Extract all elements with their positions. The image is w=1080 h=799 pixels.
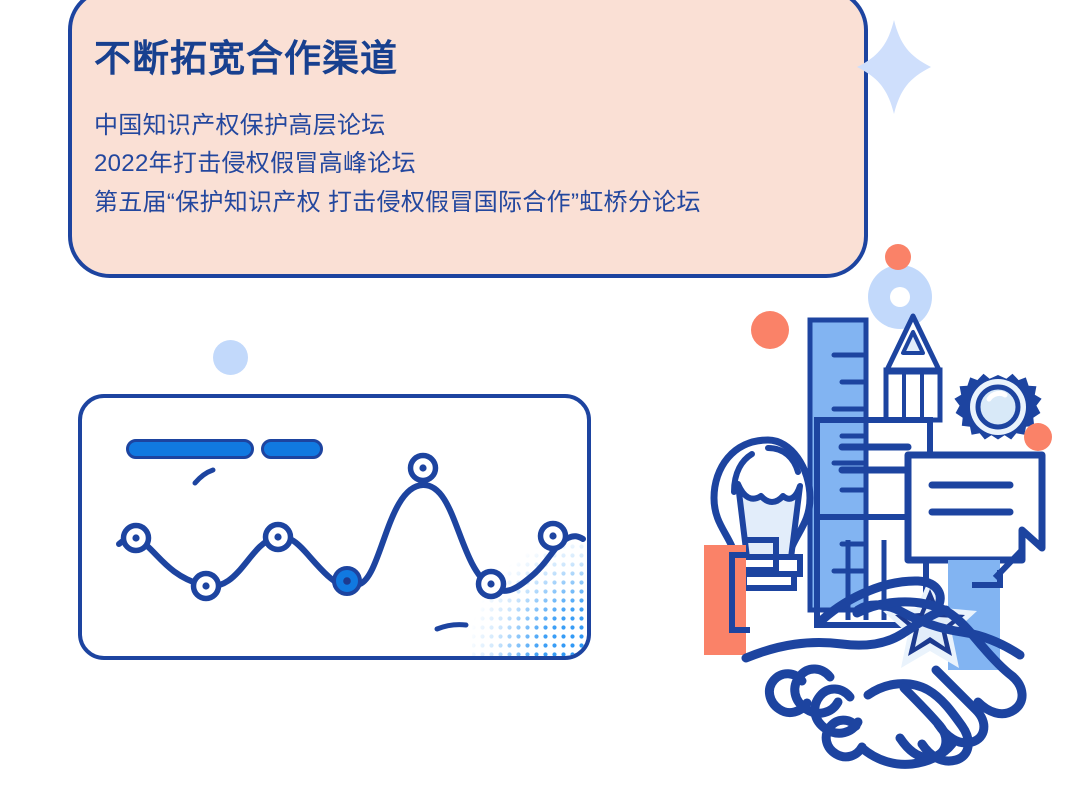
coral-dot-document-icon bbox=[1024, 423, 1052, 451]
arc-stroke-bottom-icon bbox=[437, 625, 466, 629]
chart-card bbox=[78, 394, 591, 660]
list-item: 2022年打击侵权假冒高峰论坛 bbox=[94, 145, 830, 184]
chart-markers bbox=[124, 456, 566, 599]
cooperation-illustration bbox=[690, 240, 1080, 770]
forum-list: 中国知识产权保护高层论坛 2022年打击侵权假冒高峰论坛 第五届“保护知识产权 … bbox=[94, 107, 830, 224]
pencil-icon bbox=[886, 316, 940, 420]
data-point-marker-active[interactable] bbox=[334, 568, 360, 594]
coral-sleeve-left-icon bbox=[704, 545, 746, 655]
list-item: 第五届“保护知识产权 打击侵权假冒国际合作”虹桥分论坛 bbox=[94, 184, 830, 223]
poster-canvas: 不断拓宽合作渠道 中国知识产权保护高层论坛 2022年打击侵权假冒高峰论坛 第五… bbox=[0, 0, 1080, 799]
sparkle-icon bbox=[855, 18, 933, 116]
data-point-marker[interactable] bbox=[411, 456, 436, 481]
coral-dot-top-icon bbox=[885, 244, 911, 270]
data-point-marker[interactable] bbox=[541, 524, 566, 549]
data-point-marker[interactable] bbox=[479, 572, 504, 597]
data-point-marker[interactable] bbox=[124, 526, 149, 551]
line-chart-plot bbox=[82, 398, 591, 660]
pale-blue-ring-icon bbox=[868, 265, 932, 329]
decorative-dot-icon bbox=[213, 340, 248, 375]
page-title: 不断拓宽合作渠道 bbox=[94, 38, 830, 81]
list-item: 中国知识产权保护高层论坛 bbox=[94, 107, 830, 146]
data-point-marker[interactable] bbox=[194, 574, 219, 599]
headline-card: 不断拓宽合作渠道 中国知识产权保护高层论坛 2022年打击侵权假冒高峰论坛 第五… bbox=[68, 0, 868, 278]
document-front-icon bbox=[908, 432, 1042, 560]
arc-stroke-top-icon bbox=[195, 470, 213, 483]
data-point-marker[interactable] bbox=[266, 525, 291, 550]
coral-dot-small-icon bbox=[751, 311, 789, 349]
